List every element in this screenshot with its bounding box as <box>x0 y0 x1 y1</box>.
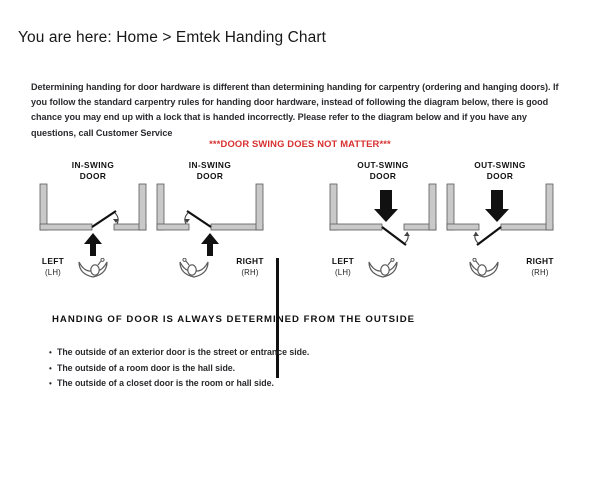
panel-out-swing-left: OUT-SWING DOOR LEFT (LH) <box>318 160 448 295</box>
door-diagram-out-swing-left <box>318 182 448 262</box>
left-hand-icon <box>366 258 400 282</box>
door-leaf <box>477 227 501 245</box>
door-diagram-in-swing-right <box>145 182 275 262</box>
intro-paragraph: Determining handing for door hardware is… <box>31 80 569 141</box>
left-hand-icon <box>76 258 110 282</box>
hand-label-right: RIGHT (RH) <box>227 256 273 278</box>
hand-abbrev-text: (LH) <box>320 267 366 278</box>
panel-out-swing-right: OUT-SWING DOOR RIGHT (RH) <box>435 160 565 295</box>
panel-title-line1: OUT-SWING <box>474 160 526 170</box>
right-hand-icon <box>467 258 501 282</box>
door-leaf <box>382 227 406 245</box>
list-item: The outside of a closet door is the room… <box>49 376 469 392</box>
right-hand-icon <box>177 258 211 282</box>
door-diagram-band: IN-SWING DOOR LEFT (LH) <box>0 160 600 295</box>
hand-abbrev-text: (LH) <box>30 267 76 278</box>
outside-rules-list: The outside of an exterior door is the s… <box>49 345 469 392</box>
hand-label-right: RIGHT (RH) <box>517 256 563 278</box>
handing-chart-sheet: Determining handing for door hardware is… <box>0 68 600 408</box>
direction-arrow-up <box>201 233 219 256</box>
door-swing-warning: ***DOOR SWING DOES NOT MATTER*** <box>0 138 600 149</box>
swing-arc-head <box>473 232 479 236</box>
hand-label-text: LEFT <box>42 256 64 266</box>
panel-title: IN-SWING DOOR <box>28 160 158 181</box>
direction-arrow-up <box>84 233 102 256</box>
panel-in-swing-right: IN-SWING DOOR RIGHT (RH) <box>145 160 275 295</box>
panel-title-line1: IN-SWING <box>72 160 114 170</box>
door-leaf <box>92 211 116 227</box>
panel-title: IN-SWING DOOR <box>145 160 275 181</box>
hand-abbrev-text: (RH) <box>517 267 563 278</box>
list-item: The outside of a room door is the hall s… <box>49 361 469 377</box>
panel-in-swing-left: IN-SWING DOOR LEFT (LH) <box>28 160 158 295</box>
panel-title-line2: DOOR <box>197 171 224 181</box>
door-leaf <box>187 211 211 227</box>
outside-determination-heading: HANDING OF DOOR IS ALWAYS DETERMINED FRO… <box>52 314 415 325</box>
hand-label-text: RIGHT <box>236 256 264 266</box>
hand-abbrev-text: (RH) <box>227 267 273 278</box>
breadcrumb: You are here: Home > Emtek Handing Chart <box>18 28 326 48</box>
hand-label-left: LEFT (LH) <box>320 256 366 278</box>
panel-title-line2: DOOR <box>80 171 107 181</box>
swing-arc-head <box>404 232 410 236</box>
panel-title-line2: DOOR <box>487 171 514 181</box>
hand-label-text: RIGHT <box>526 256 554 266</box>
direction-arrow-down <box>374 190 398 222</box>
panel-title-line1: OUT-SWING <box>357 160 409 170</box>
panel-title: OUT-SWING DOOR <box>435 160 565 181</box>
panel-title: OUT-SWING DOOR <box>318 160 448 181</box>
swing-arc <box>185 213 188 224</box>
hand-label-left: LEFT (LH) <box>30 256 76 278</box>
list-item: The outside of an exterior door is the s… <box>49 345 469 361</box>
door-diagram-in-swing-left <box>28 182 158 262</box>
wall-group <box>40 184 146 230</box>
door-diagram-out-swing-right <box>435 182 565 262</box>
direction-arrow-down <box>485 190 509 222</box>
wall-group <box>157 184 263 230</box>
panel-title-line1: IN-SWING <box>189 160 231 170</box>
hand-label-text: LEFT <box>332 256 354 266</box>
swing-arc <box>115 213 118 224</box>
panel-title-line2: DOOR <box>370 171 397 181</box>
